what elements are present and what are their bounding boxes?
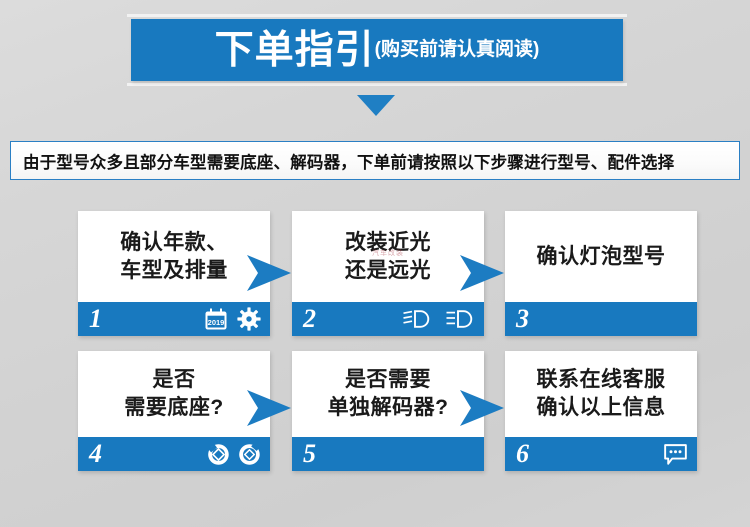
step-number-1: 1: [89, 306, 102, 332]
step-card-1[interactable]: 确认年款、 车型及排量 1 2019: [78, 211, 270, 336]
step-number-6: 6: [516, 441, 529, 467]
step-card-5-line-1: 是否需要: [345, 366, 431, 394]
step-card-3[interactable]: 确认灯泡型号 3: [505, 211, 697, 336]
chevron-right-icon: [245, 251, 293, 295]
step-card-2-line-2: 还是远光: [345, 257, 431, 285]
step-card-1-line-2: 车型及排量: [120, 257, 228, 285]
step-card-1-footer: 1 2019: [78, 302, 270, 336]
step-card-6[interactable]: 联系在线客服 确认以上信息 6: [505, 351, 697, 471]
step-card-6-body: 联系在线客服 确认以上信息: [505, 351, 697, 437]
step-card-1-line-1: 确认年款、: [120, 229, 228, 257]
low-beam-headlight-icon: [402, 309, 432, 329]
info-banner: 由于型号众多且部分车型需要底座、解码器，下单前请按照以下步骤进行型号、配件选择: [10, 141, 740, 180]
step-card-6-line-1: 联系在线客服: [537, 366, 666, 394]
step-card-2-footer: 2: [292, 302, 484, 336]
page-header-banner: 下单指引 (购买前请认真阅读): [131, 19, 623, 81]
step-card-4-body: 是否 需要底座?: [78, 351, 270, 437]
info-banner-text: 由于型号众多且部分车型需要底座、解码器，下单前请按照以下步骤进行型号、配件选择: [23, 149, 674, 173]
step-card-1-icons: 2019: [204, 307, 261, 331]
svg-text:2019: 2019: [208, 318, 225, 327]
step-card-5-footer: 5: [292, 437, 484, 471]
step-card-4-footer: 4: [78, 437, 270, 471]
step-card-3-body: 确认灯泡型号: [505, 211, 697, 302]
step-card-4-line-1: 是否: [153, 366, 196, 394]
step-card-4[interactable]: 是否 需要底座? 4: [78, 351, 270, 471]
step-number-3: 3: [516, 306, 529, 332]
step-card-2-icons: [402, 309, 475, 329]
step-card-6-line-2: 确认以上信息: [537, 394, 666, 422]
step-card-1-body: 确认年款、 车型及排量: [78, 211, 270, 302]
bulb-base-icon: [207, 443, 230, 466]
step-number-2: 2: [303, 306, 316, 332]
step-card-3-line-1: 确认灯泡型号: [537, 243, 666, 271]
step-card-5-line-2: 单独解码器?: [328, 394, 449, 422]
chevron-right-icon: [458, 251, 506, 295]
step-card-5-body: 是否需要 单独解码器?: [292, 351, 484, 437]
step-number-5: 5: [303, 441, 316, 467]
step-card-5[interactable]: 是否需要 单独解码器? 5: [292, 351, 484, 471]
triangle-down-icon: [357, 95, 395, 116]
step-card-2[interactable]: 改装近光 还是远光 汽车改装 2: [292, 211, 484, 336]
step-card-6-footer: 6: [505, 437, 697, 471]
step-card-3-footer: 3: [505, 302, 697, 336]
page-subtitle: (购买前请认真阅读): [375, 40, 540, 61]
calendar-2019-icon: 2019: [204, 308, 228, 331]
bulb-base-icon: [238, 443, 261, 466]
step-card-4-icons: [207, 443, 261, 466]
step-card-2-body: 改装近光 还是远光 汽车改装: [292, 211, 484, 302]
chevron-right-icon: [458, 386, 506, 430]
page-title: 下单指引: [215, 31, 375, 70]
high-beam-headlight-icon: [445, 309, 475, 329]
step-number-4: 4: [89, 441, 102, 467]
chevron-right-icon: [245, 386, 293, 430]
step-card-2-line-1: 改装近光: [345, 229, 431, 257]
gear-icon: [237, 307, 261, 331]
step-card-6-icons: [663, 443, 688, 466]
step-card-4-line-2: 需要底座?: [124, 394, 223, 422]
chat-bubble-icon: [663, 443, 688, 466]
